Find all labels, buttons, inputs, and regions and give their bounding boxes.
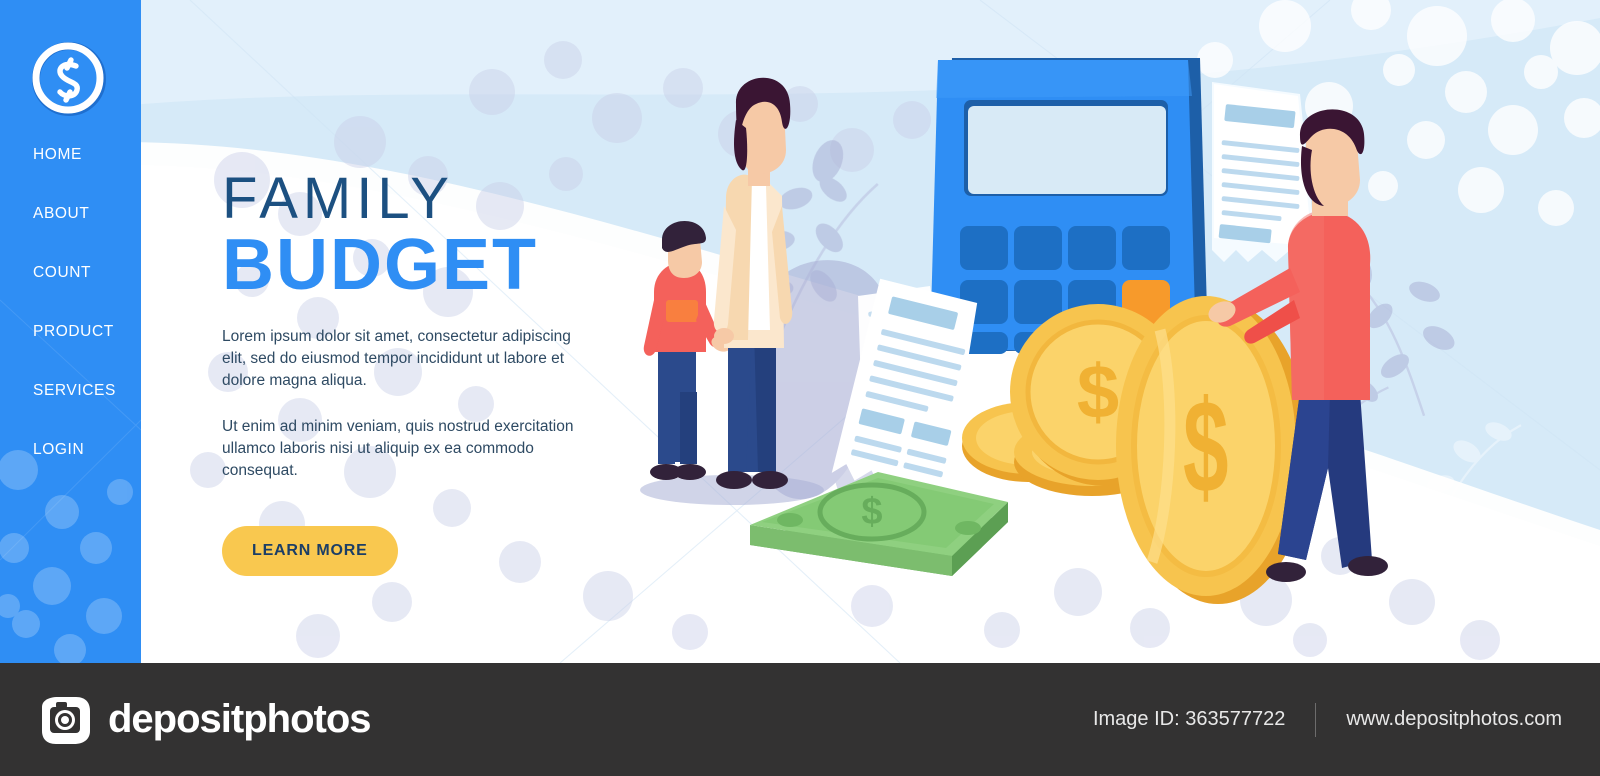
sidebar: HOME ABOUT COUNT PRODUCT SERVICES LOGIN (0, 0, 141, 663)
camera-icon (36, 691, 94, 749)
watermark-footer: depositphotos Image ID: 363577722 www.de… (0, 663, 1600, 776)
woman-figure (714, 78, 792, 489)
image-id-label: Image ID: 363577722 (1093, 708, 1285, 731)
footer-divider (1315, 703, 1316, 737)
sidebar-nav-list: HOME ABOUT COUNT PRODUCT SERVICES LOGIN (0, 145, 141, 499)
brand-logo-dollar-coin-icon[interactable] (32, 42, 106, 116)
sidebar-item-count[interactable]: COUNT (0, 263, 141, 322)
depositphotos-wordmark: depositphotos (108, 697, 371, 742)
website-url: www.depositphotos.com (1346, 708, 1562, 731)
hero-paragraph-1: Lorem ipsum dolor sit amet, consectetur … (222, 326, 578, 392)
coin-dollar-symbol-back: $ (1077, 350, 1119, 435)
family-figures-illustration (640, 78, 824, 505)
family-budget-illustration: $ $ (600, 0, 1600, 663)
hero-paragraph-2: Ut enim ad minim veniam, quis nostrud ex… (222, 416, 578, 482)
coin-dollar-symbol-front: $ (1183, 374, 1229, 521)
footer-meta-group: Image ID: 363577722 www.depositphotos.co… (1093, 703, 1562, 737)
sidebar-item-about[interactable]: ABOUT (0, 204, 141, 263)
banknote-dollar-symbol: $ (861, 491, 882, 533)
hero-section: HOME ABOUT COUNT PRODUCT SERVICES LOGIN … (0, 0, 1600, 663)
depositphotos-brand: depositphotos (36, 691, 371, 749)
sidebar-item-home[interactable]: HOME (0, 145, 141, 204)
page-title: BUDGET (222, 226, 622, 304)
page-root: HOME ABOUT COUNT PRODUCT SERVICES LOGIN … (0, 0, 1600, 776)
learn-more-button[interactable]: LEARN MORE (222, 526, 398, 576)
receipt-paper-front (831, 279, 992, 503)
sidebar-item-product[interactable]: PRODUCT (0, 322, 141, 381)
sidebar-item-login[interactable]: LOGIN (0, 440, 141, 499)
sidebar-item-services[interactable]: SERVICES (0, 381, 141, 440)
hero-copy-block: FAMILY BUDGET Lorem ipsum dolor sit amet… (222, 168, 622, 576)
hero-kicker: FAMILY (222, 168, 622, 230)
